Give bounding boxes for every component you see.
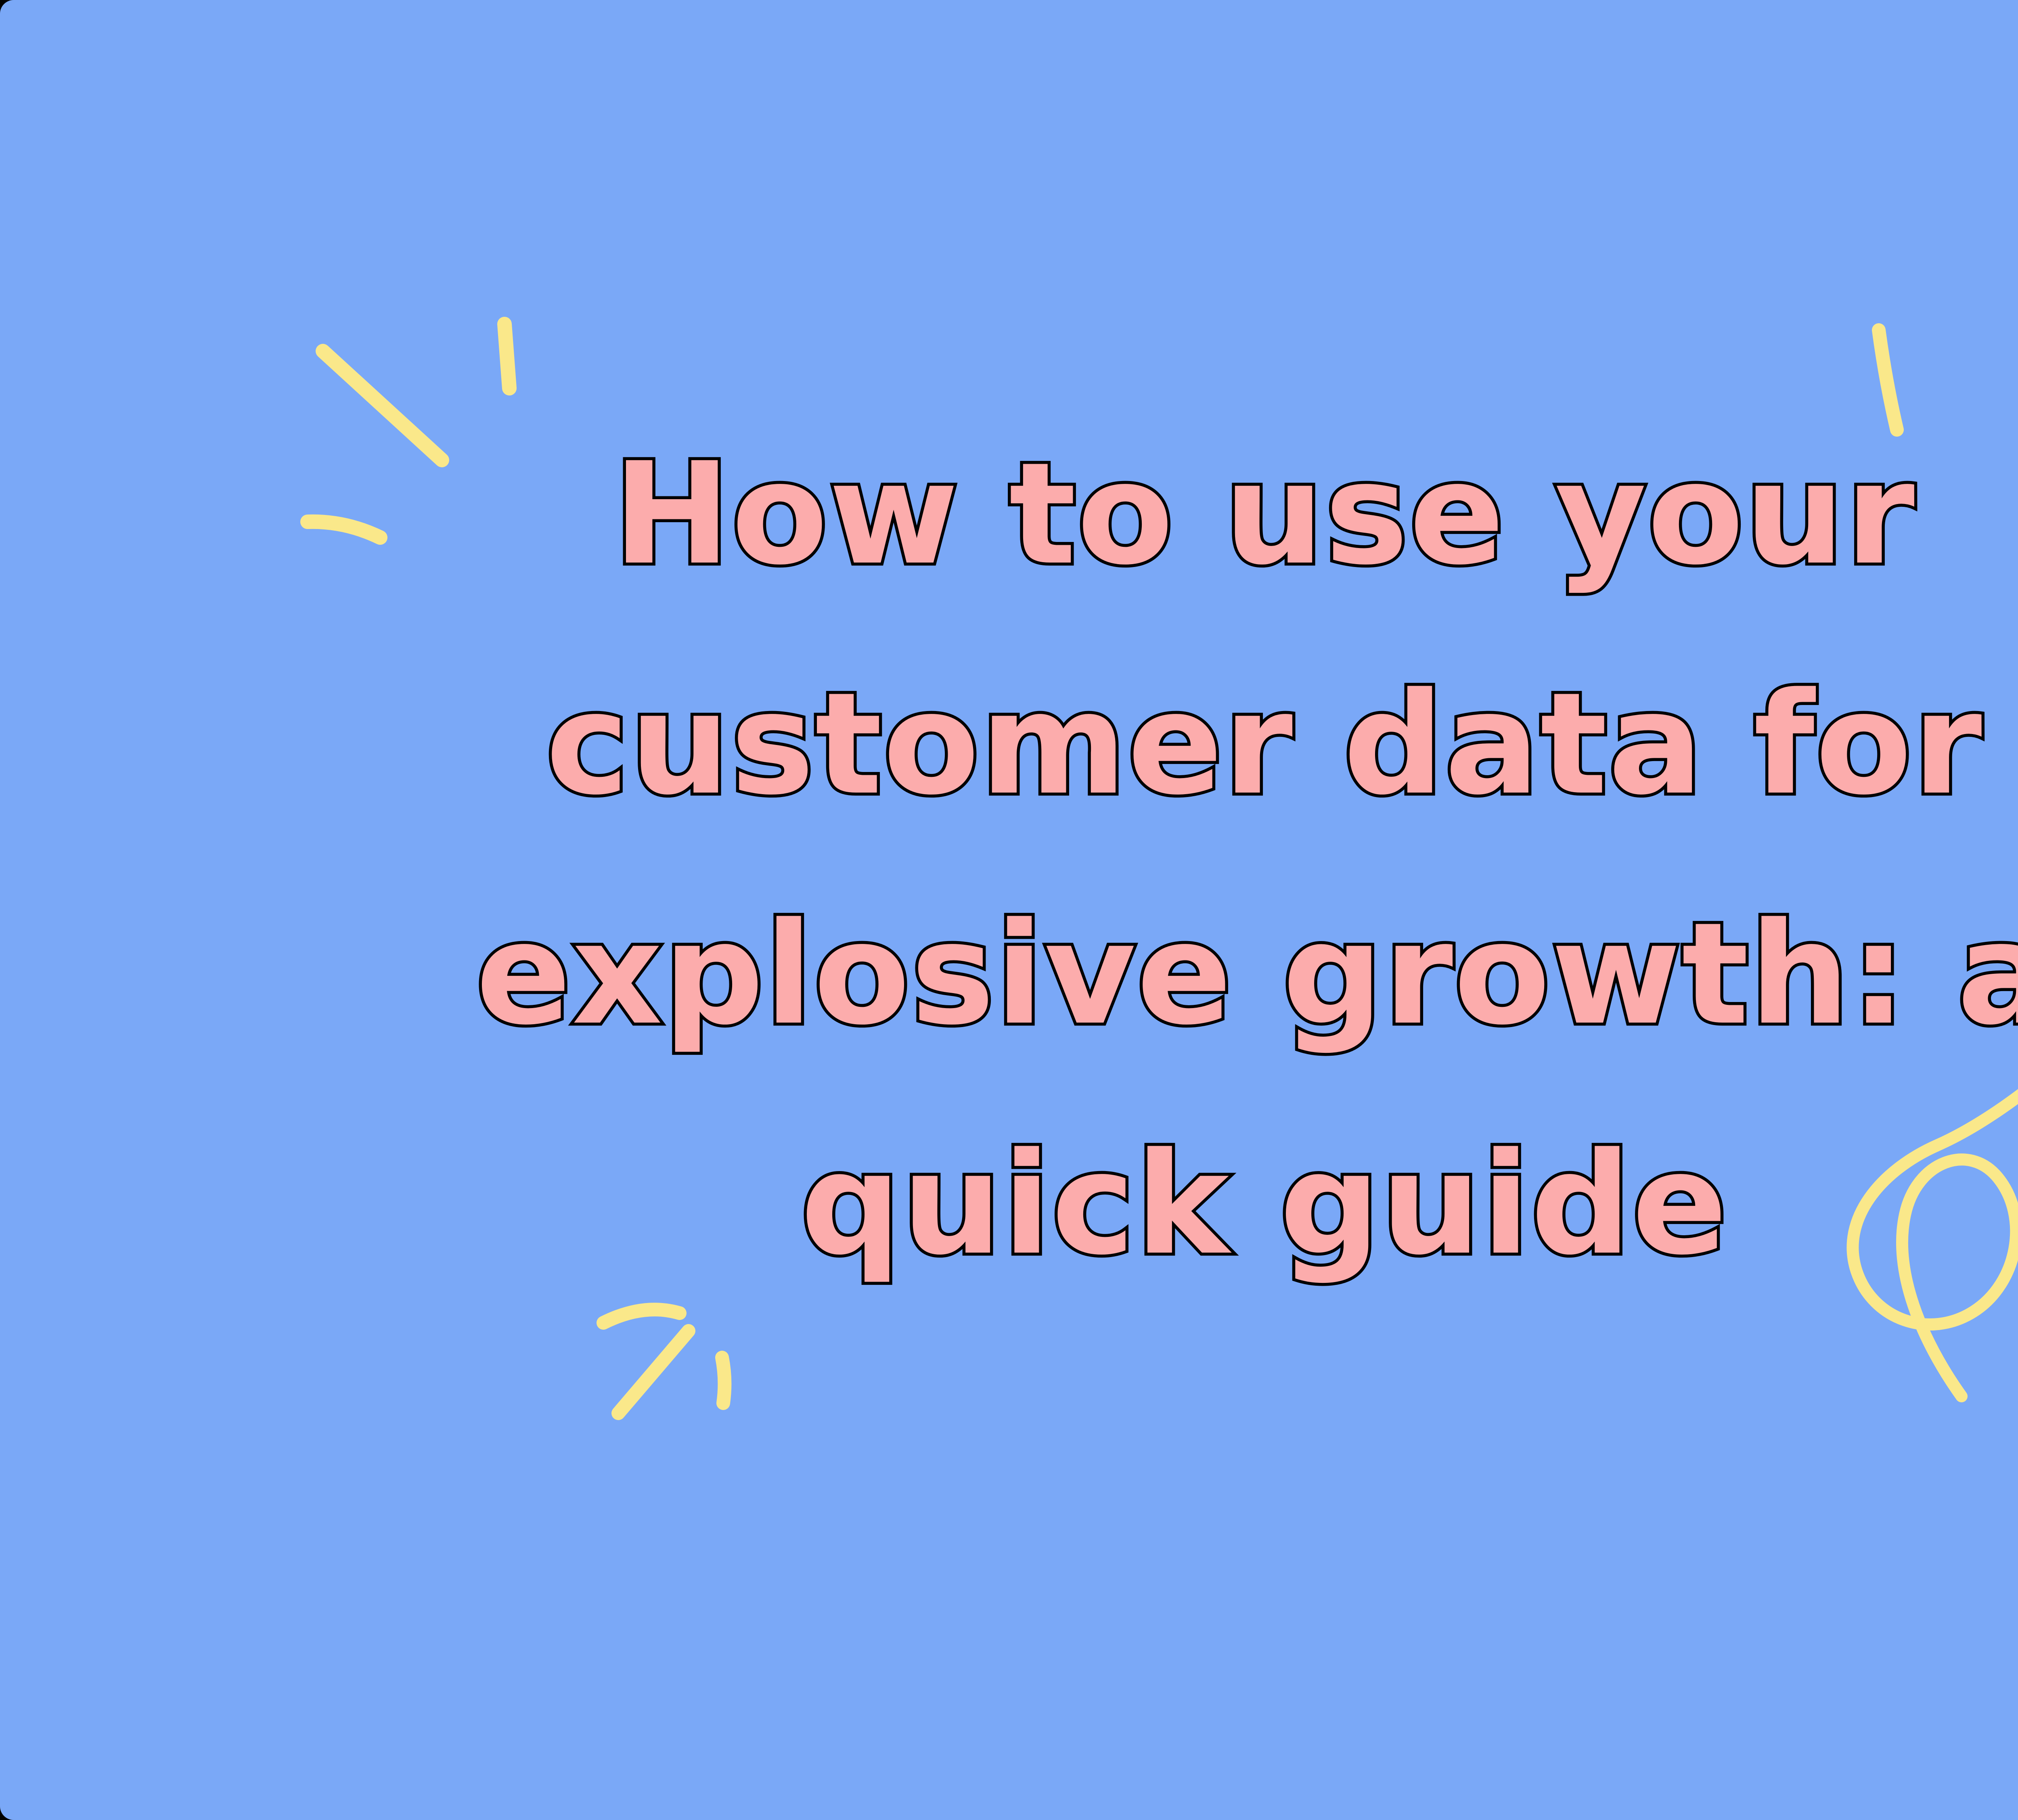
headline-line-1: How to use your [613, 400, 1915, 630]
headline-block: How to use your customer data for explos… [0, 0, 2018, 1820]
poster-canvas: How to use your customer data for explos… [0, 0, 2018, 1820]
headline-line-3: explosive growth: a [476, 860, 2018, 1090]
headline-line-2: customer data for [546, 630, 1982, 860]
headline-line-4: quick guide [800, 1090, 1728, 1320]
